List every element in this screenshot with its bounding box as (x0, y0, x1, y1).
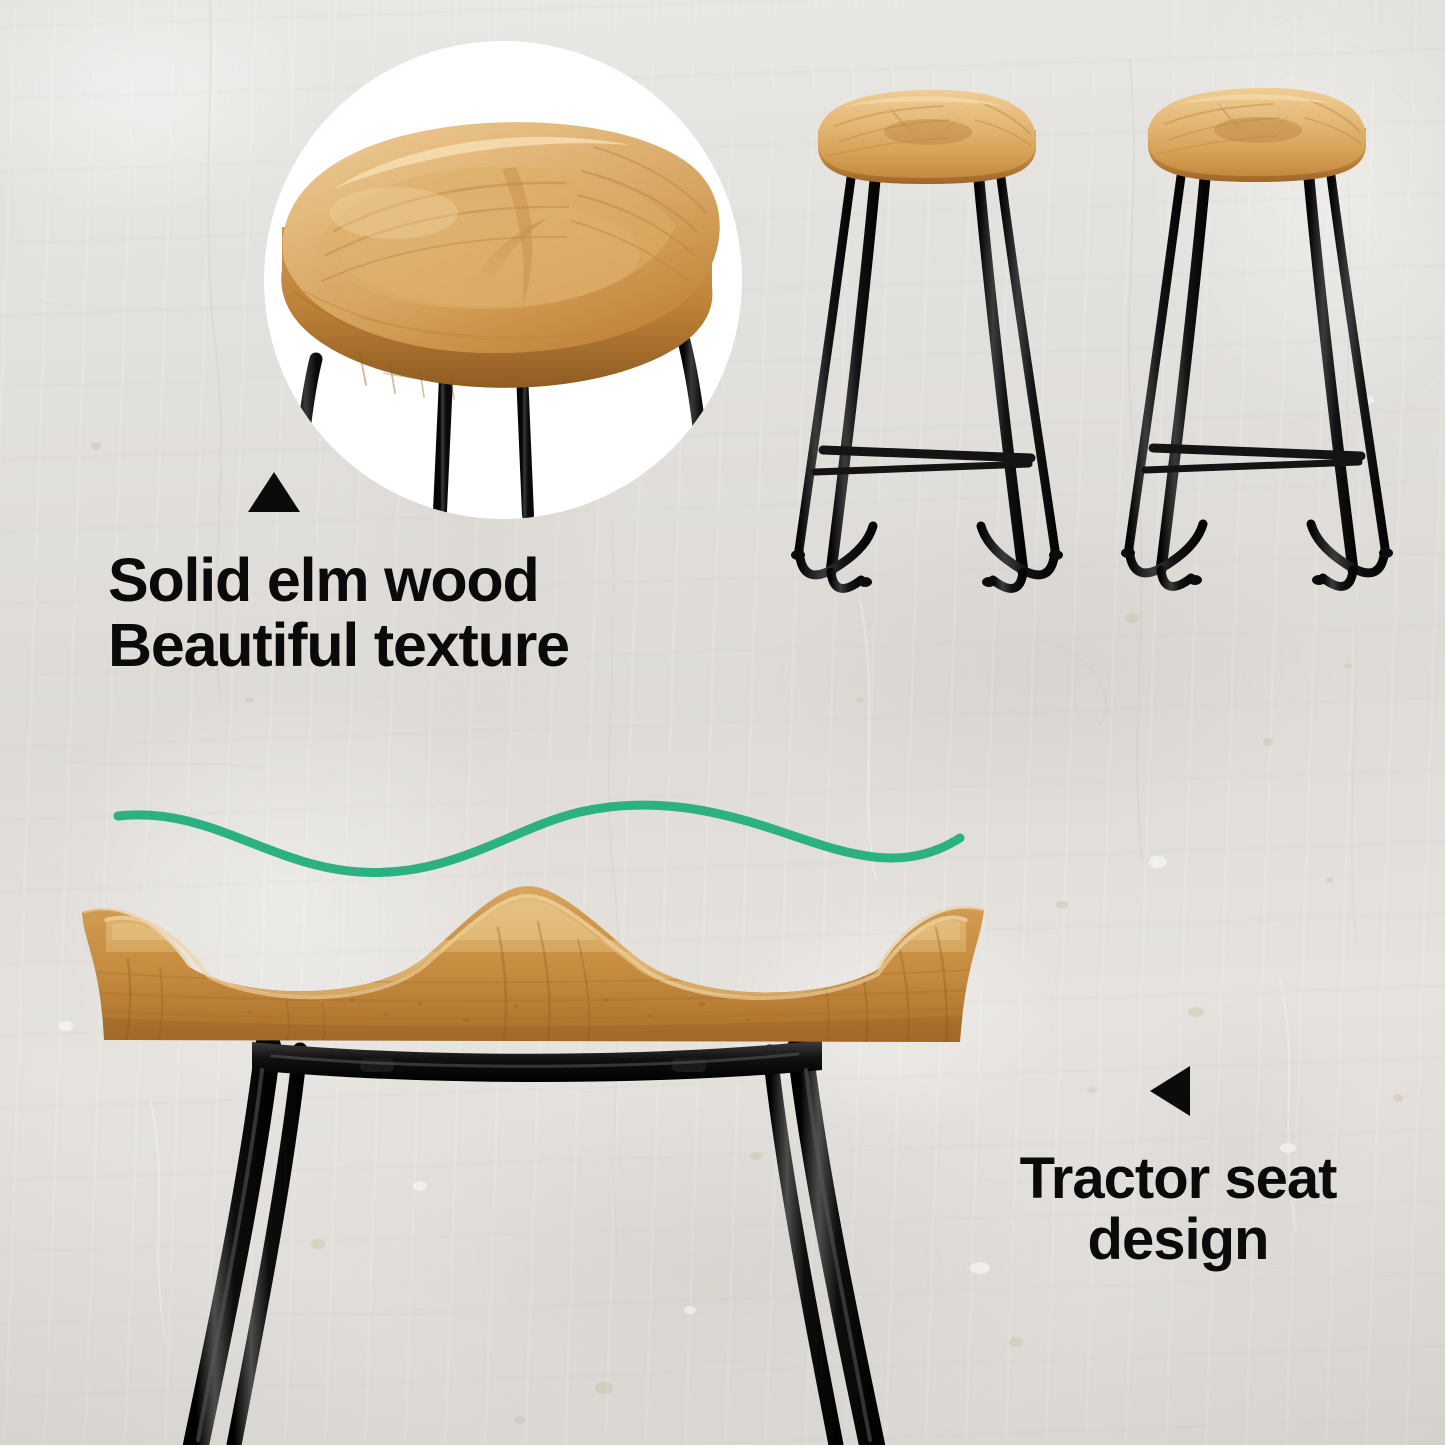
marker-triangle-up-icon (248, 472, 300, 512)
tractor-seat-design-caption: Tractor seat design (968, 1148, 1388, 1271)
caption-right-line2: design (968, 1209, 1388, 1270)
seat-closeup-illustration (264, 41, 742, 519)
product-feature-poster: Solid elm wood Beautiful texture Tractor… (0, 0, 1445, 1445)
caption-left-line2: Beautiful texture (108, 613, 569, 678)
marker-triangle-left-icon (1150, 1066, 1190, 1116)
caption-right-line1: Tractor seat (968, 1148, 1388, 1209)
seat-closeup-circle (264, 41, 742, 519)
caption-left-line1: Solid elm wood (108, 548, 569, 613)
solid-elm-wood-caption: Solid elm wood Beautiful texture (108, 548, 569, 677)
